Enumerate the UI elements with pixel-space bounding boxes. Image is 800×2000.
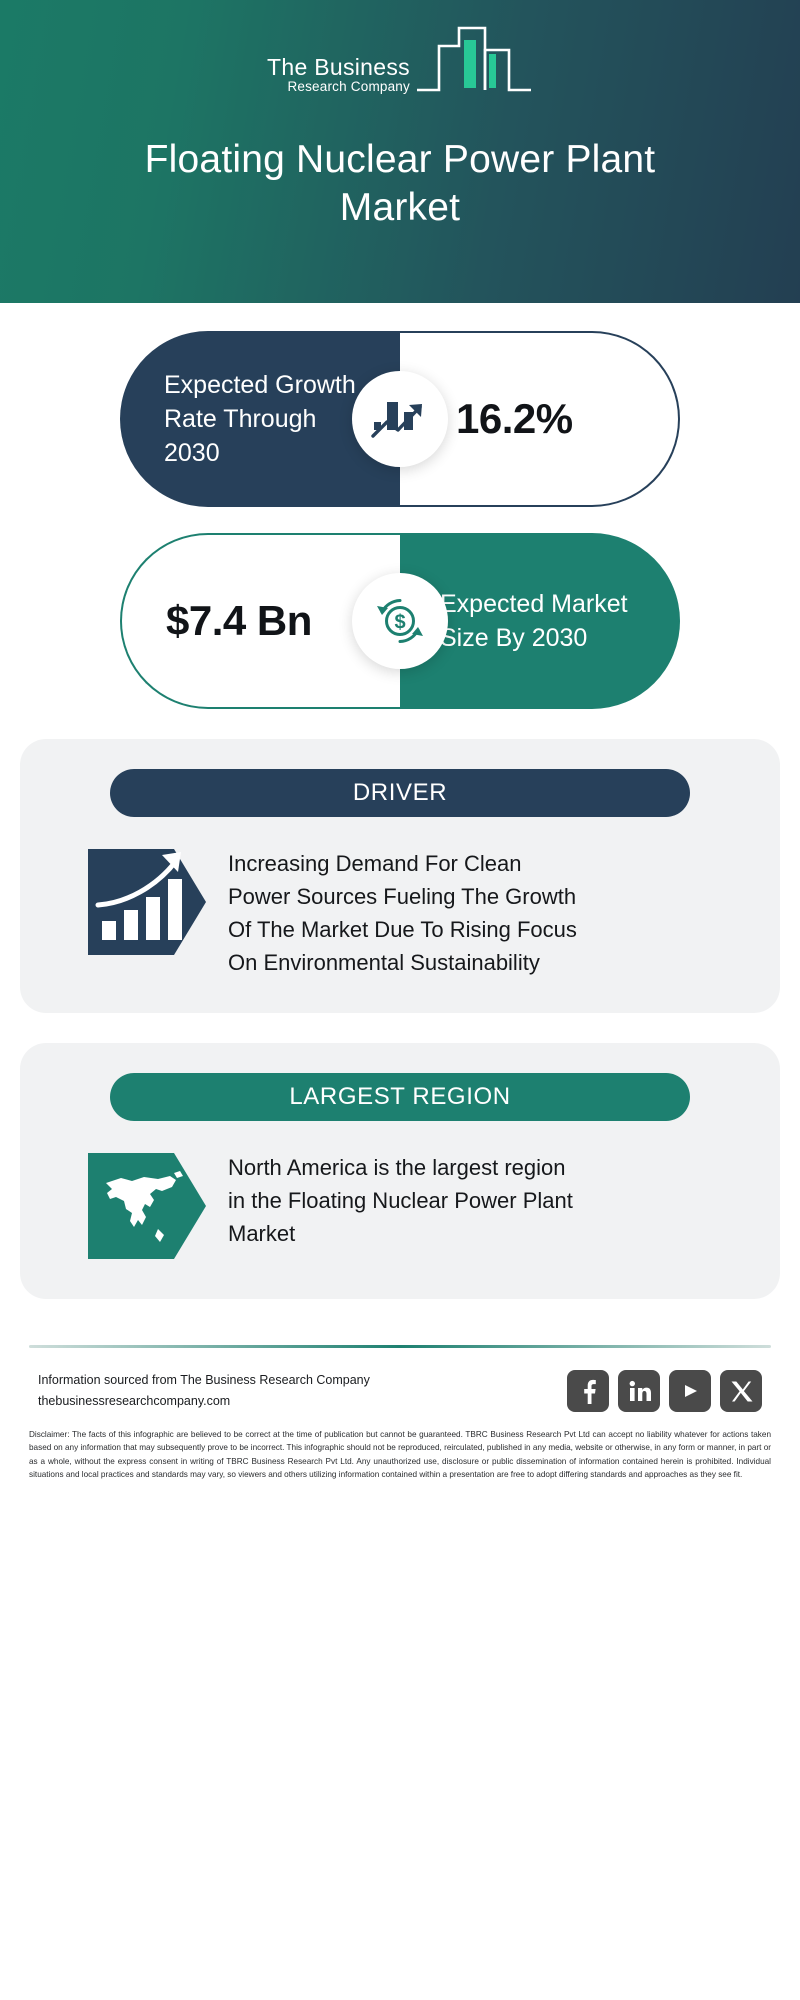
company-logo: The Business Research Company: [267, 22, 533, 100]
source-line-1: Information sourced from The Business Re…: [38, 1370, 370, 1391]
bar-chart-growth-icon: [88, 843, 206, 961]
logo-text: The Business Research Company: [267, 55, 410, 100]
header: The Business Research Company Floating N…: [0, 0, 800, 303]
logo-line-1: The Business: [267, 55, 410, 79]
youtube-icon[interactable]: [669, 1370, 711, 1412]
largest-region-body: North America is the largest region in t…: [54, 1121, 746, 1265]
dollar-circular-arrows-icon: $: [352, 573, 448, 669]
north-america-map-icon: [88, 1147, 206, 1265]
section-driver: DRIVER Increasing Demand For Clean Power…: [20, 739, 780, 1013]
section-largest-region: LARGEST REGION North America is the larg…: [20, 1043, 780, 1299]
linkedin-icon[interactable]: [618, 1370, 660, 1412]
svg-text:$: $: [394, 612, 405, 634]
growth-chart-arrow-icon: [352, 371, 448, 467]
largest-region-text: North America is the largest region in t…: [228, 1147, 578, 1250]
stat-card-market-size: $7.4 Bn Expected Market Size By 2030 $: [120, 533, 680, 709]
driver-badge: DRIVER: [110, 769, 690, 817]
page-title: Floating Nuclear Power Plant Market: [90, 136, 710, 231]
source-website-link[interactable]: thebusinessresearchcompany.com: [38, 1391, 370, 1412]
x-twitter-icon[interactable]: [720, 1370, 762, 1412]
largest-region-badge: LARGEST REGION: [110, 1073, 690, 1121]
bar-chart-logo-icon: [413, 22, 533, 99]
driver-body: Increasing Demand For Clean Power Source…: [54, 817, 746, 979]
disclaimer-text: Disclaimer: The facts of this infographi…: [15, 1428, 785, 1481]
footer-row: Information sourced from The Business Re…: [20, 1348, 780, 1412]
logo-line-2: Research Company: [287, 79, 410, 96]
facebook-icon[interactable]: [567, 1370, 609, 1412]
social-links: [567, 1370, 762, 1412]
infographic-page: The Business Research Company Floating N…: [0, 0, 800, 2000]
driver-text: Increasing Demand For Clean Power Source…: [228, 843, 578, 979]
stat-card-growth-rate: Expected Growth Rate Through 2030 16.2%: [120, 331, 680, 507]
source-attribution: Information sourced from The Business Re…: [38, 1370, 370, 1411]
